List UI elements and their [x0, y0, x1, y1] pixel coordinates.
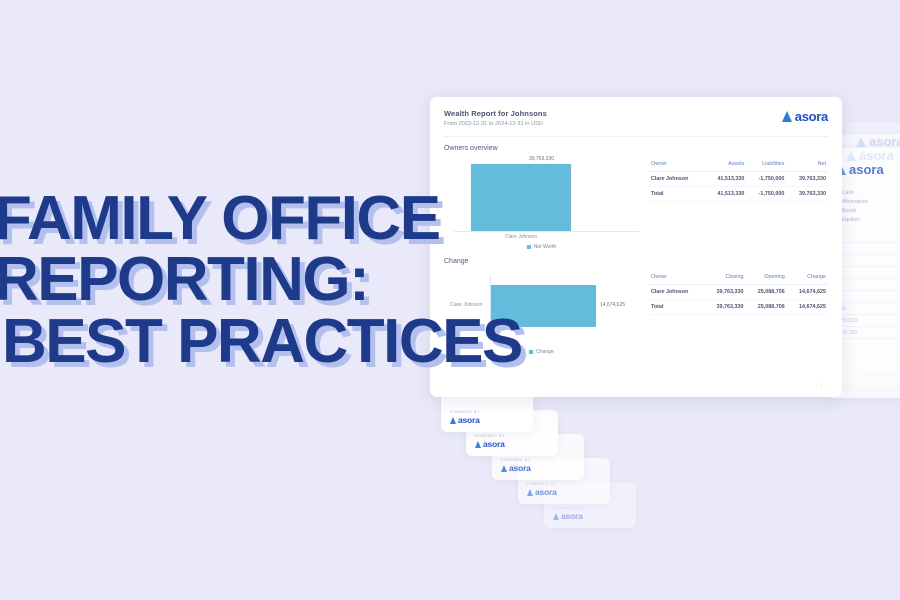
table-row: 220: [834, 279, 900, 291]
asora-mark-icon: [450, 417, 456, 424]
change-table: Owner Closing Opening Change Clare Johns…: [649, 271, 828, 315]
chart-x-axis: [454, 231, 639, 232]
legend-label: Equities: [842, 217, 860, 223]
change-bar-chart: Clare Johnson 14,674,625: [444, 271, 639, 347]
table-row: 7,850,539: [834, 315, 900, 327]
report-title: Wealth Report for Johnsons: [444, 109, 547, 118]
asora-mark-icon: [782, 111, 792, 122]
legend-item: Alternatives: [834, 199, 900, 205]
legend-label: Net Worth: [534, 244, 556, 250]
asora-wordmark: asora: [458, 415, 480, 425]
asora-wordmark: asora: [561, 511, 583, 521]
cell-opening: 25,088,706: [745, 300, 786, 315]
powered-by-block: POWERED BY asora: [501, 458, 531, 474]
change-section: Clare Johnson 14,674,625 Change Owner Cl…: [444, 269, 828, 355]
cell-label: 7,850,539: [834, 315, 893, 327]
table-row: 209,32: [834, 243, 900, 255]
asora-mark-icon: [527, 489, 533, 496]
cell-closing: 39,763,330: [704, 285, 745, 300]
cell-change: 209,32: [893, 243, 900, 255]
table-row: Clare Johnson 39,763,330 25,088,706 14,6…: [649, 285, 828, 300]
column-header-closing: Closing: [704, 271, 745, 285]
page-number: - 1 -: [817, 383, 826, 389]
change-chart: Clare Johnson 14,674,625 Change: [444, 269, 639, 355]
cell-label: [834, 279, 893, 291]
asora-mark-icon: [501, 465, 507, 472]
cell-change: 14,674,625: [787, 285, 828, 300]
wealth-report-card: Wealth Report for Johnsons From 2023-12-…: [430, 97, 842, 397]
cell-change: -318,90: [893, 267, 900, 279]
x-axis-tick-label: Clare Johnson: [505, 234, 537, 240]
cell-label: Total: [834, 303, 893, 315]
table-row-total: Total 200: [834, 303, 900, 315]
column-header-change: Change: [893, 231, 900, 243]
report-title-block: Wealth Report for Johnsons From 2023-12-…: [444, 109, 547, 127]
y-axis-tick-label: Clare Johnson: [450, 302, 482, 308]
cell-assets: 41,513,330: [705, 172, 747, 187]
asora-wordmark: asora: [795, 109, 828, 124]
cell-change: 315: [893, 291, 900, 303]
legend-label: Change: [536, 349, 554, 355]
legend-label: Cash: [842, 190, 854, 196]
asora-logo-header: asora: [782, 109, 828, 124]
cell-liabilities: -1,750,000: [746, 187, 786, 202]
powered-by-block: POWERED BY asora: [553, 506, 583, 522]
background-card-content: Cash Alternatives Bonds Equities Change: [834, 190, 900, 339]
column-header: [834, 231, 893, 243]
section-title-owners-overview: Owners overview: [444, 145, 828, 152]
bar-value-label: 39,763,330: [529, 156, 554, 162]
cell-assets: 41,513,330: [705, 187, 747, 202]
powered-by-label: POWERED BY: [553, 506, 583, 510]
legend-item: Equities: [834, 217, 900, 223]
table-header-row: Owner Assets Liabilities Net: [649, 158, 828, 172]
asora-wordmark: asora: [849, 162, 884, 177]
table-row: Clare Johnson 41,513,330 -1,750,000 39,7…: [649, 172, 828, 187]
powered-by-label: POWERED BY: [475, 434, 505, 438]
allocation-legend: Cash Alternatives Bonds Equities: [834, 190, 900, 223]
powered-by-label: POWERED BY: [501, 458, 531, 462]
cell-label: [834, 243, 893, 255]
legend-item: Bonds: [834, 208, 900, 214]
asora-logo: asora: [501, 463, 531, 473]
column-header-change: Change: [787, 271, 828, 285]
cell-change: 14,674,625: [787, 300, 828, 315]
legend-label: Alternatives: [842, 199, 868, 205]
table-row: 315: [834, 291, 900, 303]
cell-net: 39,763,330: [786, 187, 828, 202]
legend-item: Cash: [834, 190, 900, 196]
owners-overview-section: 39,763,330 Clare Johnson Net Worth Owner…: [444, 156, 828, 250]
cell-change: -52,00: [893, 255, 900, 267]
powered-by-block: POWERED BY asora: [527, 482, 557, 498]
column-header-assets: Assets: [705, 158, 747, 172]
asora-wordmark: asora: [483, 439, 505, 449]
column-header-owner: Owner: [649, 271, 704, 285]
bar-value-label: 14,674,625: [600, 302, 625, 308]
table-row: 35,76,300: [834, 327, 900, 339]
legend-label: Bonds: [842, 208, 856, 214]
powered-by-block: POWERED BY asora: [475, 434, 505, 450]
cell-change: [893, 327, 900, 339]
table-header-row: Change: [834, 231, 900, 243]
asora-logo: asora: [553, 511, 583, 521]
net-worth-bar-chart: 39,763,330 Clare Johnson: [444, 156, 639, 242]
report-header: Wealth Report for Johnsons From 2023-12-…: [444, 109, 828, 127]
table-row-total: Total 39,763,330 25,088,706 14,674,625: [649, 300, 828, 315]
column-header-net: Net: [786, 158, 828, 172]
asora-wordmark: asora: [535, 487, 557, 497]
header-divider: [444, 136, 828, 137]
table-row: -318,90: [834, 267, 900, 279]
cell-label: [834, 255, 893, 267]
cell-liabilities: -1,750,000: [746, 172, 786, 187]
powered-by-block: POWERED BY asora: [450, 410, 480, 426]
report-subtitle: From 2023-12-31 to 2024-12-31 in USD: [444, 121, 547, 127]
table-row-total: Total 41,513,330 -1,750,000 39,763,330: [649, 187, 828, 202]
cell-net: 39,763,330: [786, 172, 828, 187]
table-header-row: Owner Closing Opening Change: [649, 271, 828, 285]
cell-label: [834, 291, 893, 303]
powered-by-label: POWERED BY: [527, 482, 557, 486]
chart-legend: Net Worth: [444, 244, 639, 250]
chart-legend: Change: [444, 349, 639, 355]
owners-overview-table-wrap: Owner Assets Liabilities Net Clare Johns…: [649, 156, 828, 250]
asora-logo: asora: [450, 415, 480, 425]
asora-logo-deck-2: asora: [836, 162, 884, 177]
column-header-opening: Opening: [745, 271, 786, 285]
asora-logo: asora: [527, 487, 557, 497]
asora-logo: asora: [475, 439, 505, 449]
asora-mark-icon: [475, 441, 481, 448]
column-header-liabilities: Liabilities: [746, 158, 786, 172]
cell-change: 200: [893, 303, 900, 315]
cell-owner: Total: [649, 187, 705, 202]
asora-mark-icon: [553, 513, 559, 520]
cell-closing: 39,763,330: [704, 300, 745, 315]
table-row: -52,00: [834, 255, 900, 267]
cell-opening: 25,088,706: [745, 285, 786, 300]
owners-overview-table: Owner Assets Liabilities Net Clare Johns…: [649, 158, 828, 202]
bar-clare-johnson-change: [491, 285, 596, 327]
powered-by-label: POWERED BY: [450, 410, 480, 414]
cell-label: 35,76,300: [834, 327, 893, 339]
change-table-wrap: Owner Closing Opening Change Clare Johns…: [649, 269, 828, 355]
cell-change: 220: [893, 279, 900, 291]
owners-overview-chart: 39,763,330 Clare Johnson Net Worth: [444, 156, 639, 250]
cell-change: [893, 315, 900, 327]
legend-swatch-icon: [527, 245, 531, 249]
cell-label: [834, 267, 893, 279]
cell-owner: Clare Johnson: [649, 285, 704, 300]
section-title-change: Change: [444, 258, 828, 265]
column-header-owner: Owner: [649, 158, 705, 172]
bar-clare-johnson: [471, 164, 571, 232]
background-card-table: Change 209,32 -52,00 -318,90 220 315: [834, 231, 900, 339]
legend-swatch-icon: [529, 350, 533, 354]
cell-owner: Clare Johnson: [649, 172, 705, 187]
cell-owner: Total: [649, 300, 704, 315]
asora-wordmark: asora: [509, 463, 531, 473]
